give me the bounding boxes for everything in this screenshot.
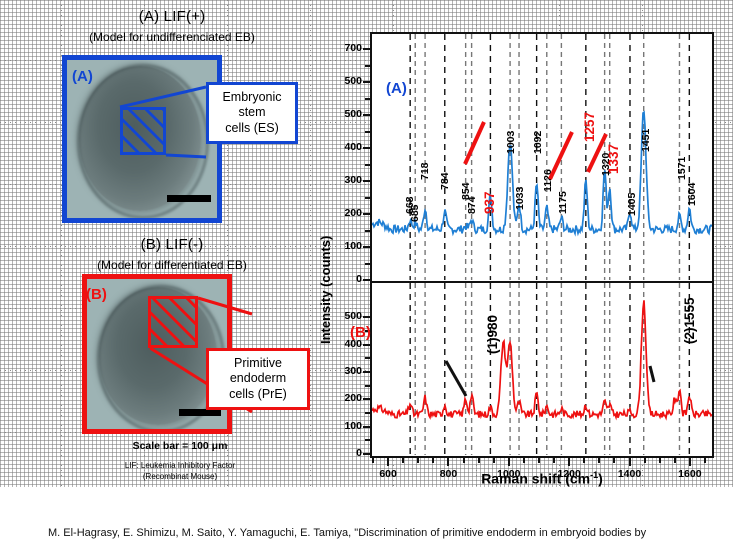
guide-line-v [310,0,311,487]
peak-label-1604: 1604 [686,183,698,206]
peak-labels-layer: 6686857187848548741003103310921126117513… [314,14,720,484]
peak-label-1571: 1571 [676,157,688,180]
callout-line: stem [212,105,292,121]
peak-label-1092: 1092 [532,131,544,154]
panel-b-title: (B) LIF(-) [72,236,272,253]
peak-label-1003: 1003 [505,131,517,154]
abbreviation-note-line2: (Recombinat Mouse) [80,472,280,481]
abbreviation-note-line1: LIF: Leukemia Inhibitory Factor [80,461,280,470]
citation: M. El-Hagrasy, E. Shimizu, M. Saito, Y. … [48,494,708,543]
panel-a-title: (A) LIF(+) [72,8,272,25]
annotation-1555: (2)1555 [682,297,697,344]
peak-label-1337: 1337 [606,144,621,174]
annotation-980: (1)980 [485,315,500,354]
trace-label-a: (A) [386,80,407,97]
citation-line-1: M. El-Hagrasy, E. Shimizu, M. Saito, Y. … [48,526,708,542]
peak-label-1175: 1175 [557,191,569,214]
peak-label-718: 718 [419,162,431,180]
callout-line: Embryonic [212,90,292,106]
peak-label-784: 784 [439,172,451,190]
panel-a-letter: (A) [72,68,93,85]
trace-label-b: (B) [350,324,371,341]
peak-label-937: 937 [482,191,497,214]
black-annotation-leaders [314,14,720,484]
raman-spectra-chart: Intensity (counts) 010020030040050050070… [314,14,720,484]
peak-label-1257: 1257 [582,112,597,142]
slide-canvas: (A) LIF(+) (Model for undifferenciated E… [0,0,733,543]
peak-label-1451: 1451 [640,129,652,152]
panel-b-letter: (B) [86,286,107,303]
red-peak-leaders [314,14,720,484]
callout-line: Primitive [212,356,304,372]
peak-label-685: 685 [409,204,421,222]
callout-line: endoderm [212,371,304,387]
panel-a-callout: Embryonic stem cells (ES) [206,82,298,144]
callout-line: cells (ES) [212,121,292,137]
peak-label-1126: 1126 [542,169,554,192]
panel-b-callout: Primitive endoderm cells (PrE) [206,348,310,410]
peak-label-1033: 1033 [514,187,526,210]
panel-a-subtitle: (Model for undifferenciated EB) [52,30,292,44]
peak-label-874: 874 [466,196,478,214]
panel-b-subtitle: (Model for differentiated EB) [52,258,292,272]
x-axis-title-sup: -1 [590,470,598,480]
x-axis-title-base: Raman shift (cm [481,471,590,487]
x-axis-title: Raman shift (cm-1) [370,470,714,487]
x-axis-title-tail: ) [598,471,603,487]
scale-bar-note: Scale bar = 100 μm [90,440,270,452]
callout-line: cells (PrE) [212,387,304,403]
peak-label-1405: 1405 [626,193,638,216]
